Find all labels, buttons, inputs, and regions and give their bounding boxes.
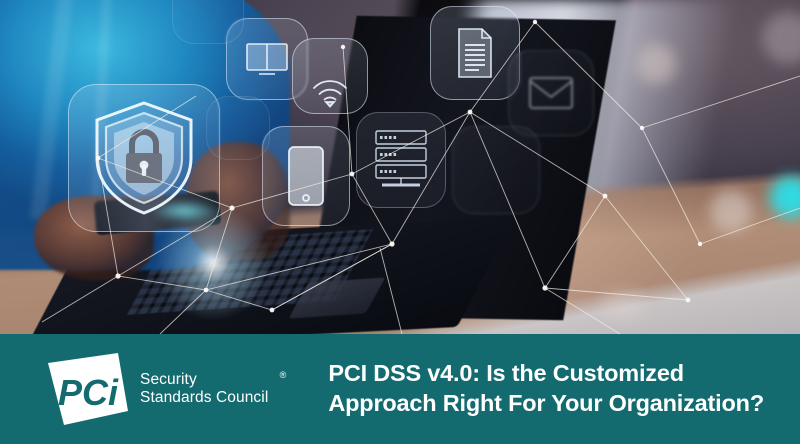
bokeh-light (600, 290, 646, 320)
bokeh-light (710, 190, 752, 232)
headline-line-1: PCI DSS v4.0: Is the Customized (328, 359, 764, 389)
hero-image (0, 0, 800, 334)
bokeh-light (636, 44, 676, 84)
pci-ssc-logo[interactable]: PCi Security Standards Council ® (44, 353, 286, 425)
hologram-tile-blank (452, 126, 540, 214)
hologram-tile-server (356, 112, 446, 208)
blank-tile-icon (453, 127, 539, 213)
hologram-tile-envelope (508, 50, 594, 136)
smartphone-icon (263, 127, 349, 225)
hologram-tile-blank (206, 96, 270, 160)
pci-ssc-name: Security Standards Council ® (140, 371, 286, 406)
registered-trademark-symbol: ® (280, 371, 287, 380)
blank-tile-icon (173, 0, 243, 43)
banner-headline: PCI DSS v4.0: Is the Customized Approach… (328, 359, 764, 418)
pci-logo-text: PCi (58, 372, 119, 413)
hologram-tile-blank (172, 0, 244, 44)
server-rack-icon (357, 113, 445, 207)
brand-name-line2: Standards Council (140, 389, 268, 407)
hologram-tile-document (430, 6, 520, 100)
document-icon (431, 7, 519, 99)
headline-line-2: Approach Right For Your Organization? (328, 389, 764, 419)
footer-banner: PCi Security Standards Council ® PCI DSS… (0, 334, 800, 444)
hologram-tile-smartphone (262, 126, 350, 226)
brand-name-line1: Security (140, 371, 268, 389)
pci-dss-banner: PCi Security Standards Council ® PCI DSS… (0, 0, 800, 444)
blank-tile-icon (207, 97, 269, 159)
hologram-tile-wifi (292, 38, 368, 114)
pci-logo-mark: PCi (44, 353, 128, 425)
envelope-icon (509, 51, 593, 135)
wifi-icon (293, 39, 367, 131)
